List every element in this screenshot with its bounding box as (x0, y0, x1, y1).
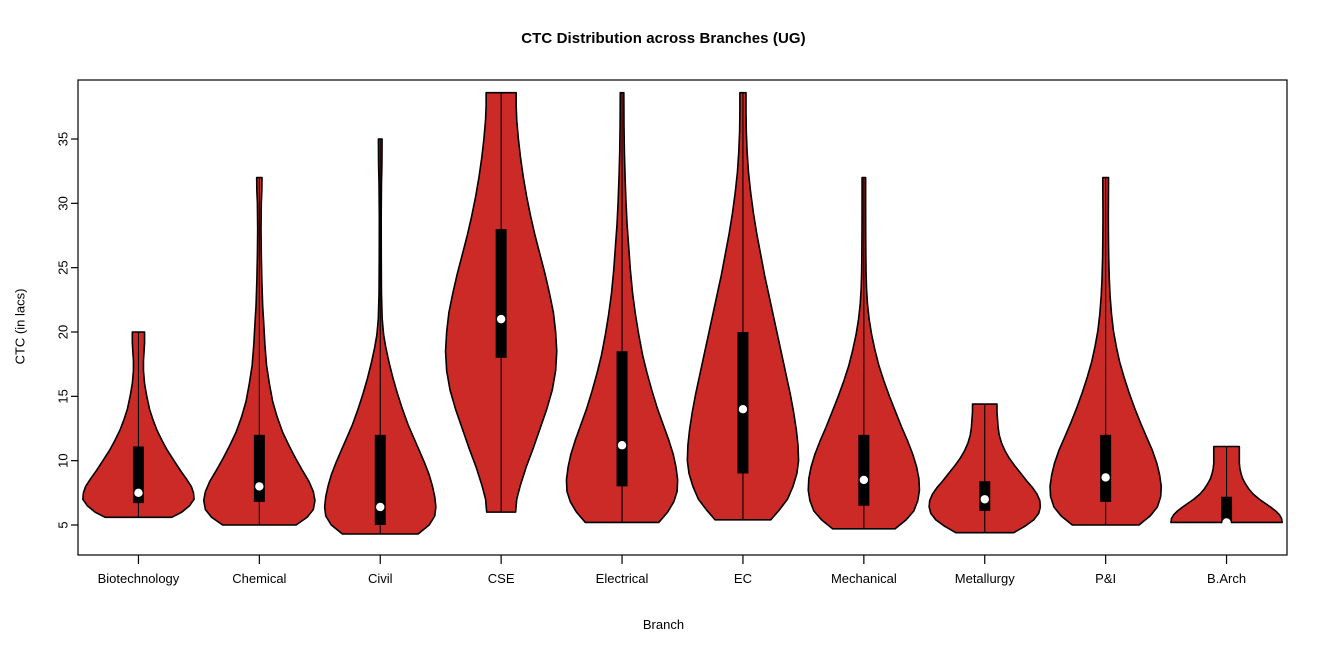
violin-p-i (1050, 178, 1161, 525)
y-axis-tick-label: 25 (55, 260, 70, 274)
x-axis-tick-label-mechanical: Mechanical (831, 571, 897, 586)
x-axis-tick-label-ec: EC (734, 571, 752, 586)
x-axis-tick-label-cse: CSE (488, 571, 515, 586)
x-axis-tick-label-civil: Civil (368, 571, 393, 586)
violin-median-marker (1101, 473, 1109, 481)
violin-ec (687, 93, 798, 520)
y-axis-tick-label: 30 (55, 196, 70, 210)
violin-chemical (204, 178, 315, 525)
y-axis-tick-label: 20 (55, 325, 70, 339)
plot-canvas: 5101520253035BiotechnologyChemicalCivilC… (0, 0, 1327, 653)
violin-b-arch (1171, 447, 1282, 527)
violin-electrical (566, 93, 677, 523)
violin-median-marker (618, 441, 626, 449)
violin-median-marker (497, 315, 505, 323)
violin-biotechnology (83, 332, 194, 517)
x-axis-tick-label-b-arch: B.Arch (1207, 571, 1246, 586)
y-axis-tick-label: 5 (55, 521, 70, 528)
violin-median-marker (255, 482, 263, 490)
violin-metallurgy (929, 404, 1040, 533)
violin-civil (325, 139, 436, 534)
violin-plot-figure: CTC Distribution across Branches (UG) CT… (0, 0, 1327, 653)
violin-median-marker (860, 476, 868, 484)
y-axis-tick-label: 10 (55, 453, 70, 467)
y-axis-tick-label: 15 (55, 389, 70, 403)
violin-median-marker (981, 495, 989, 503)
x-axis: BiotechnologyChemicalCivilCSEElectricalE… (98, 555, 1246, 586)
x-axis-tick-label-metallurgy: Metallurgy (955, 571, 1015, 586)
violin-median-marker (1222, 518, 1230, 526)
violin-median-marker (134, 489, 142, 497)
y-axis-tick-label: 35 (55, 132, 70, 146)
violin-mechanical (808, 178, 919, 529)
x-axis-tick-label-electrical: Electrical (596, 571, 649, 586)
violin-cse (446, 93, 557, 512)
x-axis-tick-label-biotechnology: Biotechnology (98, 571, 180, 586)
violin-median-marker (376, 503, 384, 511)
violin-median-marker (739, 405, 747, 413)
x-axis-tick-label-chemical: Chemical (232, 571, 286, 586)
y-axis: 5101520253035 (55, 132, 78, 529)
x-axis-tick-label-p-i: P&I (1095, 571, 1116, 586)
